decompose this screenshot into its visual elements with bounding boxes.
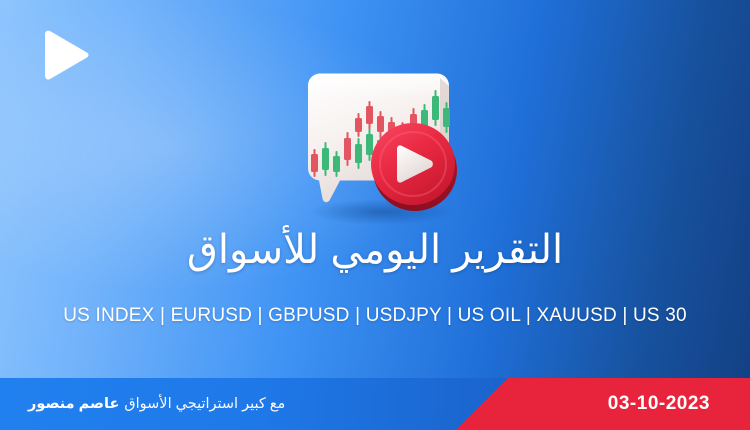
presenter-name: عاصم منصور: [28, 396, 119, 412]
instruments-list: US INDEX | EURUSD | GBPUSD | USDJPY | US…: [0, 305, 750, 328]
play-icon[interactable]: [40, 28, 92, 82]
credit-prefix-text: مع كبير استراتيجي الأسواق: [124, 396, 285, 412]
footer-bar: مع كبير استراتيجي الأسواق عاصم منصور 03-…: [0, 378, 750, 430]
report-date: 03-10-2023: [608, 378, 710, 430]
speech-bubble-candlestick-chart-icon: [278, 72, 474, 222]
video-thumbnail: التقرير اليومي للأسواق US INDEX | EURUSD…: [0, 0, 750, 430]
page-title: التقرير اليومي للأسواق: [0, 228, 750, 272]
presenter-credit: مع كبير استراتيجي الأسواق عاصم منصور: [28, 378, 285, 430]
